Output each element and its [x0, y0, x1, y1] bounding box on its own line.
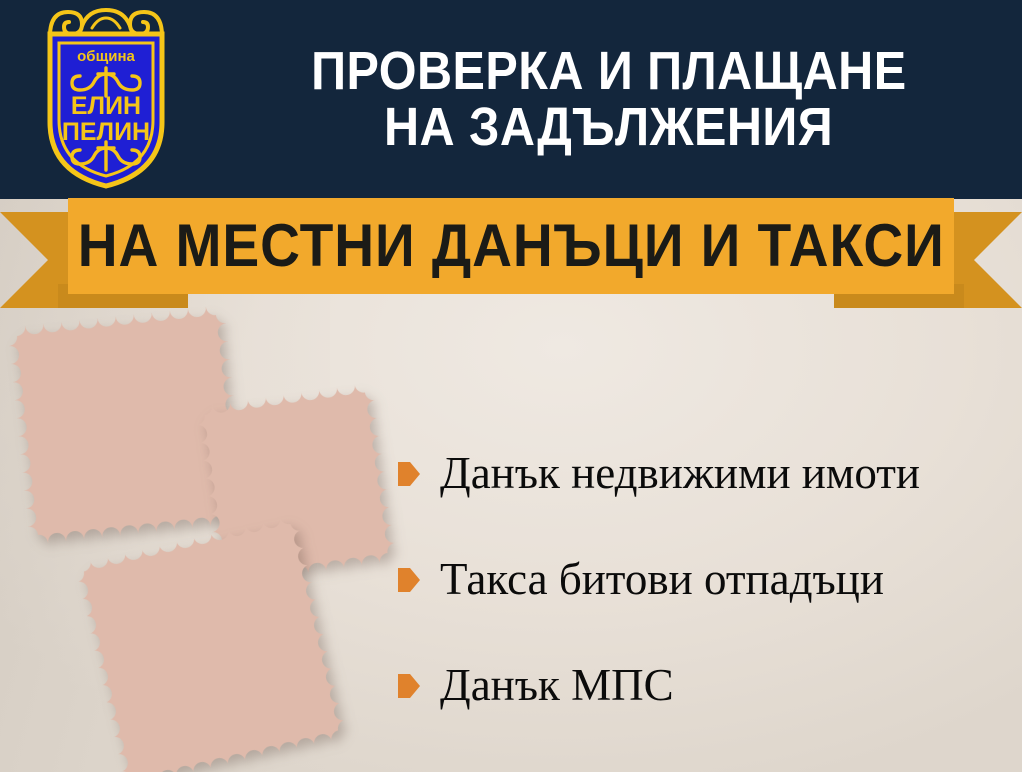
header-bar: община ЕЛИН ПЕЛИН ПРОВЕРКА И ПЛАЩАНЕ НА … [0, 0, 1022, 199]
page-title: ПРОВЕРКА И ПЛАЩАНЕ НА ЗАДЪЛЖЕНИЯ [196, 0, 1022, 199]
list-item[interactable]: Данък МПС [398, 632, 1008, 738]
ribbon-main-panel: НА МЕСТНИ ДАНЪЦИ И ТАКСИ [68, 198, 954, 294]
tax-type-list: Данък недвижими имоти Такса битови отпад… [398, 420, 1008, 738]
ribbon-banner: НА МЕСТНИ ДАНЪЦИ И ТАКСИ [0, 198, 1022, 308]
list-item-label: Данък недвижими имоти [440, 451, 920, 496]
list-item-label: Данък МПС [440, 663, 674, 708]
crest-name-line2: ПЕЛИН [62, 118, 150, 146]
poster-canvas: община ЕЛИН ПЕЛИН ПРОВЕРКА И ПЛАЩАНЕ НА … [0, 0, 1022, 772]
arrow-bullet-icon [398, 568, 420, 592]
crest-icon: община ЕЛИН ПЕЛИН [20, 4, 192, 194]
title-line-1: ПРОВЕРКА И ПЛАЩАНЕ [311, 44, 907, 100]
crest-top-text: община [77, 48, 135, 65]
arrow-bullet-icon [398, 462, 420, 486]
municipality-crest: община ЕЛИН ПЕЛИН [20, 4, 192, 194]
list-item-label: Такса битови отпадъци [440, 557, 884, 602]
title-line-2: НА ЗАДЪЛЖЕНИЯ [384, 100, 833, 156]
crest-name-line1: ЕЛИН [71, 92, 141, 120]
list-item[interactable]: Такса битови отпадъци [398, 526, 1008, 632]
ribbon-label: НА МЕСТНИ ДАНЪЦИ И ТАКСИ [77, 216, 944, 276]
arrow-bullet-icon [398, 674, 420, 698]
list-item[interactable]: Данък недвижими имоти [398, 420, 1008, 526]
